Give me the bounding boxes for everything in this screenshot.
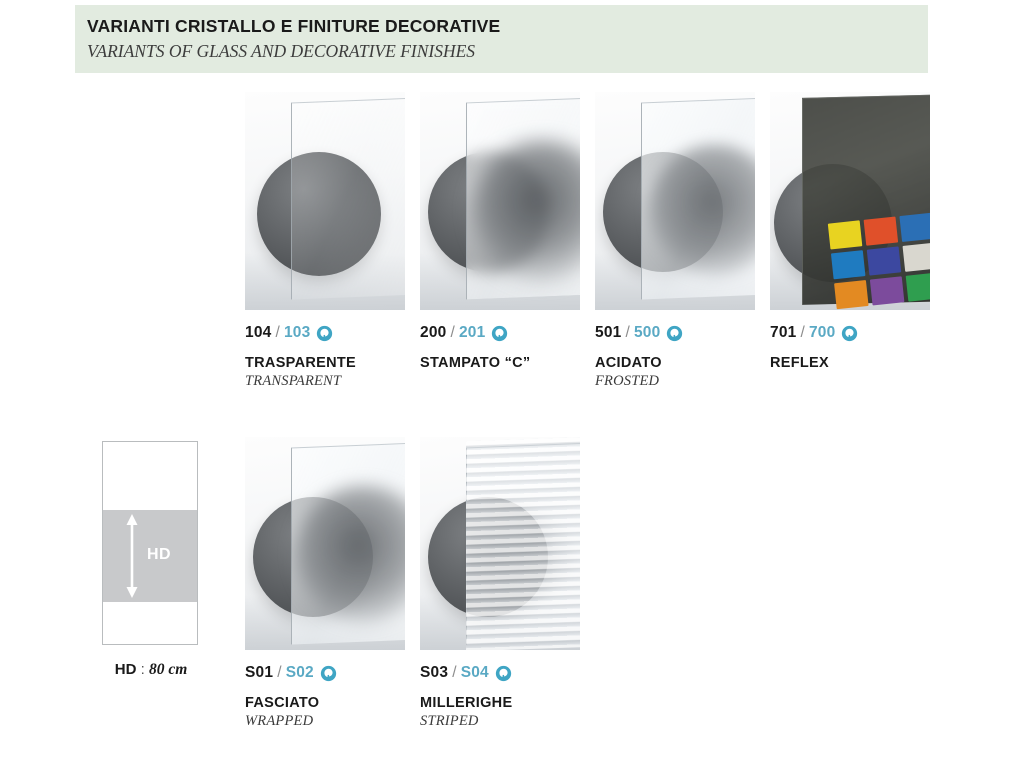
sample-name-en: TRANSPARENT xyxy=(245,373,405,390)
code-alt: 103 xyxy=(284,324,310,342)
code-separator: / xyxy=(452,664,457,682)
sample-code-line: 701 / 700 xyxy=(770,324,930,342)
sample-image-reflex xyxy=(770,92,930,310)
code-main: S01 xyxy=(245,664,273,682)
color-swatch xyxy=(870,276,905,305)
hd-caption-value: 80 cm xyxy=(149,661,187,678)
hd-caption: HD : 80 cm xyxy=(102,661,200,679)
page-header-band: VARIANTI CRISTALLO E FINITURE DECORATIVE… xyxy=(75,5,928,73)
sample-card-stampato-c[interactable]: 200 / 201 STAMPATO “C” xyxy=(420,92,580,371)
code-alt: 500 xyxy=(634,324,660,342)
code-main: 501 xyxy=(595,324,621,342)
finish-badge-icon xyxy=(320,665,337,682)
double-arrow-vertical-icon xyxy=(125,514,139,598)
color-swatch xyxy=(864,217,899,246)
code-main: 104 xyxy=(245,324,271,342)
finish-badge-icon xyxy=(495,665,512,682)
sample-name-it: FASCIATO xyxy=(245,695,405,711)
code-separator: / xyxy=(450,324,455,342)
sample-image-millerighe xyxy=(420,437,580,650)
sample-code-line: S03 / S04 xyxy=(420,664,580,682)
code-alt: 700 xyxy=(809,324,835,342)
fluted-stripes xyxy=(466,437,580,650)
sample-card-reflex[interactable]: 701 / 700 REFLEX xyxy=(770,92,930,371)
sample-card-acidato[interactable]: 501 / 500 ACIDATO FROSTED xyxy=(595,92,755,390)
code-main: S03 xyxy=(420,664,448,682)
code-main: 701 xyxy=(770,324,796,342)
hd-panel-outline: HD xyxy=(102,441,198,645)
sample-name-en: FROSTED xyxy=(595,373,755,390)
sample-name-it: REFLEX xyxy=(770,355,930,371)
page-title: VARIANTI CRISTALLO E FINITURE DECORATIVE xyxy=(87,16,928,38)
finish-badge-icon xyxy=(316,325,333,342)
color-checker-chart xyxy=(828,213,930,309)
color-swatch xyxy=(899,213,930,242)
sample-name-it: MILLERIGHE xyxy=(420,695,580,711)
code-alt: S02 xyxy=(286,664,314,682)
code-alt: 201 xyxy=(459,324,485,342)
color-swatch xyxy=(867,246,902,275)
hd-caption-key: HD xyxy=(115,661,137,678)
finish-badge-icon xyxy=(666,325,683,342)
sample-code-line: S01 / S02 xyxy=(245,664,405,682)
finish-badge-icon xyxy=(491,325,508,342)
hd-caption-colon: : xyxy=(136,661,149,678)
sample-card-millerighe[interactable]: S03 / S04 MILLERIGHE STRIPED xyxy=(420,437,580,730)
sample-name-en: WRAPPED xyxy=(245,713,405,730)
sample-name-it: TRASPARENTE xyxy=(245,355,405,371)
sample-image-stampato-c xyxy=(420,92,580,310)
code-alt: S04 xyxy=(461,664,489,682)
sample-card-trasparente[interactable]: 104 / 103 TRASPARENTE TRANSPARENT xyxy=(245,92,405,390)
sample-image-fasciato xyxy=(245,437,405,650)
code-separator: / xyxy=(275,324,280,342)
hd-diagram: HD HD : 80 cm xyxy=(102,441,200,679)
hd-inner-label: HD xyxy=(147,546,171,564)
sample-name-it: ACIDATO xyxy=(595,355,755,371)
sample-name-en: STRIPED xyxy=(420,713,580,730)
color-swatch xyxy=(906,272,930,301)
sample-code-line: 200 / 201 xyxy=(420,324,580,342)
sample-image-trasparente xyxy=(245,92,405,310)
finish-badge-icon xyxy=(841,325,858,342)
code-separator: / xyxy=(277,664,282,682)
color-swatch xyxy=(834,280,869,309)
code-separator: / xyxy=(625,324,630,342)
sample-image-acidato xyxy=(595,92,755,310)
color-swatch xyxy=(831,250,866,279)
color-swatch xyxy=(828,220,863,249)
code-main: 200 xyxy=(420,324,446,342)
sample-card-fasciato[interactable]: S01 / S02 FASCIATO WRAPPED xyxy=(245,437,405,730)
sample-code-line: 104 / 103 xyxy=(245,324,405,342)
sample-code-line: 501 / 500 xyxy=(595,324,755,342)
sample-name-it: STAMPATO “C” xyxy=(420,355,580,371)
color-swatch xyxy=(903,243,930,272)
code-separator: / xyxy=(800,324,805,342)
glass-pane xyxy=(291,98,405,300)
page-subtitle: VARIANTS OF GLASS AND DECORATIVE FINISHE… xyxy=(87,40,928,63)
